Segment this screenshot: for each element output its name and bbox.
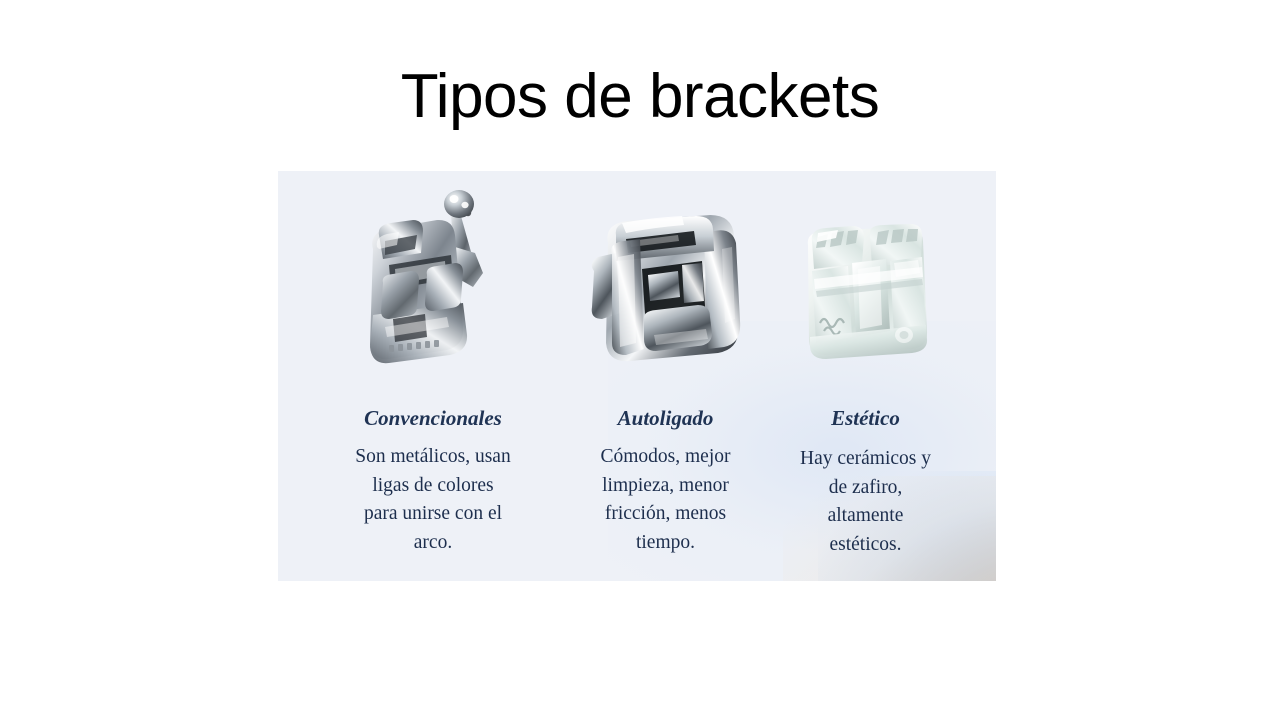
metal-conventional-bracket-icon xyxy=(355,187,511,377)
bracket-description: Cómodos, mejor limpieza, menor fricción,… xyxy=(568,443,763,557)
bracket-description: Son metálicos, usan ligas de colores par… xyxy=(308,443,558,557)
chrome-selfligating-bracket-icon xyxy=(586,209,746,367)
bracket-heading: Autoligado xyxy=(568,405,763,431)
slide: Tipos de brackets xyxy=(0,0,1280,705)
description-line: arco. xyxy=(308,529,558,558)
description-line: limpieza, menor xyxy=(568,472,763,501)
bracket-heading: Convencionales xyxy=(308,405,558,431)
description-line: tiempo. xyxy=(568,529,763,558)
description-line: fricción, menos xyxy=(568,500,763,529)
brackets-comparison-panel: Convencionales Son metálicos, usan ligas… xyxy=(278,171,996,581)
description-line: Son metálicos, usan xyxy=(308,443,558,472)
description-line: ligas de colores xyxy=(308,472,558,501)
ceramic-sapphire-bracket-icon xyxy=(794,219,938,365)
description-line: Cómodos, mejor xyxy=(568,443,763,472)
bracket-description: Hay cerámicos y de zafiro, altamente est… xyxy=(768,445,963,559)
page-title: Tipos de brackets xyxy=(0,60,1280,134)
bracket-column-selfligating: Autoligado Cómodos, mejor limpieza, meno… xyxy=(568,171,763,581)
description-line: de zafiro, xyxy=(768,474,963,503)
description-line: altamente xyxy=(768,502,963,531)
description-line: Hay cerámicos y xyxy=(768,445,963,474)
bracket-heading: Estético xyxy=(768,405,963,431)
description-line: para unirse con el xyxy=(308,500,558,529)
description-line: estéticos. xyxy=(768,531,963,560)
bracket-column-esthetic: Estético Hay cerámicos y de zafiro, alta… xyxy=(768,171,963,581)
bracket-column-conventional: Convencionales Son metálicos, usan ligas… xyxy=(308,171,558,581)
